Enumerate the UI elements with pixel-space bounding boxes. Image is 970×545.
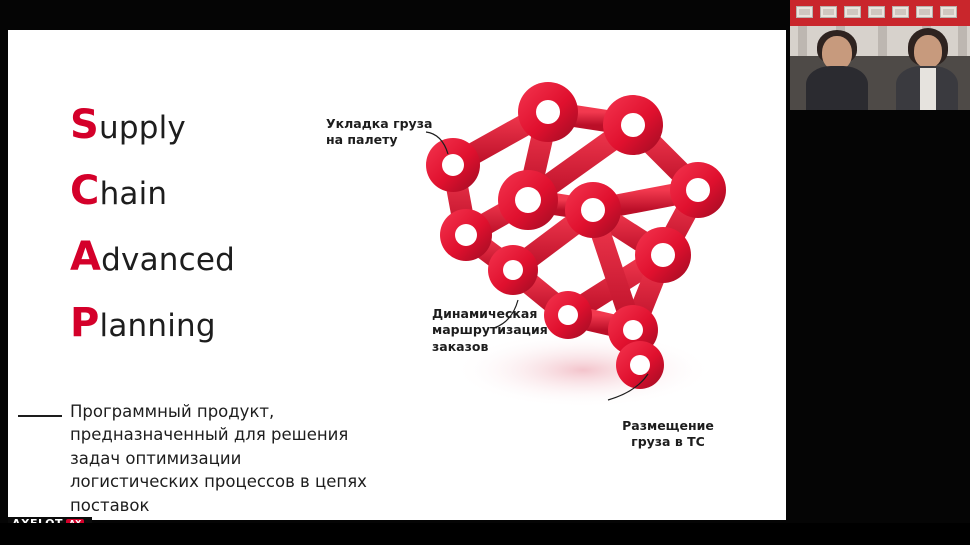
participant-head (822, 36, 852, 70)
node (498, 170, 558, 230)
backdrop-tile (916, 6, 933, 18)
acronym-rest-chain: hain (100, 176, 168, 212)
video-participant-right (894, 28, 960, 110)
node (440, 209, 492, 261)
callout-3-line-2: груза в ТС (608, 434, 728, 450)
participant-shirt (920, 68, 936, 110)
participant-torso (806, 66, 868, 110)
node (565, 182, 621, 238)
node (670, 162, 726, 218)
backdrop-tile (796, 6, 813, 18)
screen-root: Supply Chain Advanced Planning Программн… (0, 0, 970, 545)
node (635, 227, 691, 283)
node (616, 341, 664, 389)
acronym-rest-supply: upply (99, 110, 186, 146)
callout-3-line-1: Размещение (608, 418, 728, 434)
acronym-rest-advanced: dvanced (101, 242, 235, 278)
acronym-capital-s: S (70, 102, 99, 148)
acronym-capital-a: A (70, 234, 101, 280)
acronym-line-advanced: Advanced (70, 242, 330, 278)
acronym-line-supply: Supply (70, 110, 330, 146)
video-thumbnail-panel[interactable] (790, 0, 970, 110)
description-rule (18, 415, 62, 417)
participant-head (914, 35, 942, 68)
backdrop-tile (844, 6, 861, 18)
acronym-rest-planning: lanning (100, 308, 216, 344)
product-description: Программный продукт, предназначенный для… (70, 400, 370, 517)
callout-1-line-2: на палету (326, 132, 444, 148)
acronym-capital-c: C (70, 168, 100, 214)
backdrop-tile (892, 6, 909, 18)
network-graphic-svg (408, 70, 768, 420)
callout-1-line-1: Укладка груза (326, 116, 444, 132)
presentation-slide: Supply Chain Advanced Planning Программн… (8, 30, 786, 520)
callout-2-line-1: Динамическая (432, 306, 552, 322)
backdrop-tile (940, 6, 957, 18)
video-participant-left (806, 30, 868, 110)
callout-2-line-2: маршрутизация (432, 322, 552, 338)
backdrop-tile (868, 6, 885, 18)
callout-dynamic-routing: Динамическая маршрутизация заказов (432, 306, 552, 355)
network-graphic (408, 70, 768, 420)
backdrop-tile (820, 6, 837, 18)
node (518, 82, 578, 142)
callout-pallet-loading: Укладка груза на палету (326, 116, 444, 149)
scap-acronym-block: Supply Chain Advanced Planning (70, 110, 330, 374)
callout-2-line-3: заказов (432, 339, 552, 355)
acronym-line-chain: Chain (70, 176, 330, 212)
letterbox-bottom (0, 523, 970, 545)
wall-column (878, 26, 887, 56)
callout-cargo-placement: Размещение груза в ТС (608, 418, 728, 451)
node (488, 245, 538, 295)
acronym-capital-p: P (70, 300, 100, 346)
node (603, 95, 663, 155)
acronym-line-planning: Planning (70, 308, 330, 344)
